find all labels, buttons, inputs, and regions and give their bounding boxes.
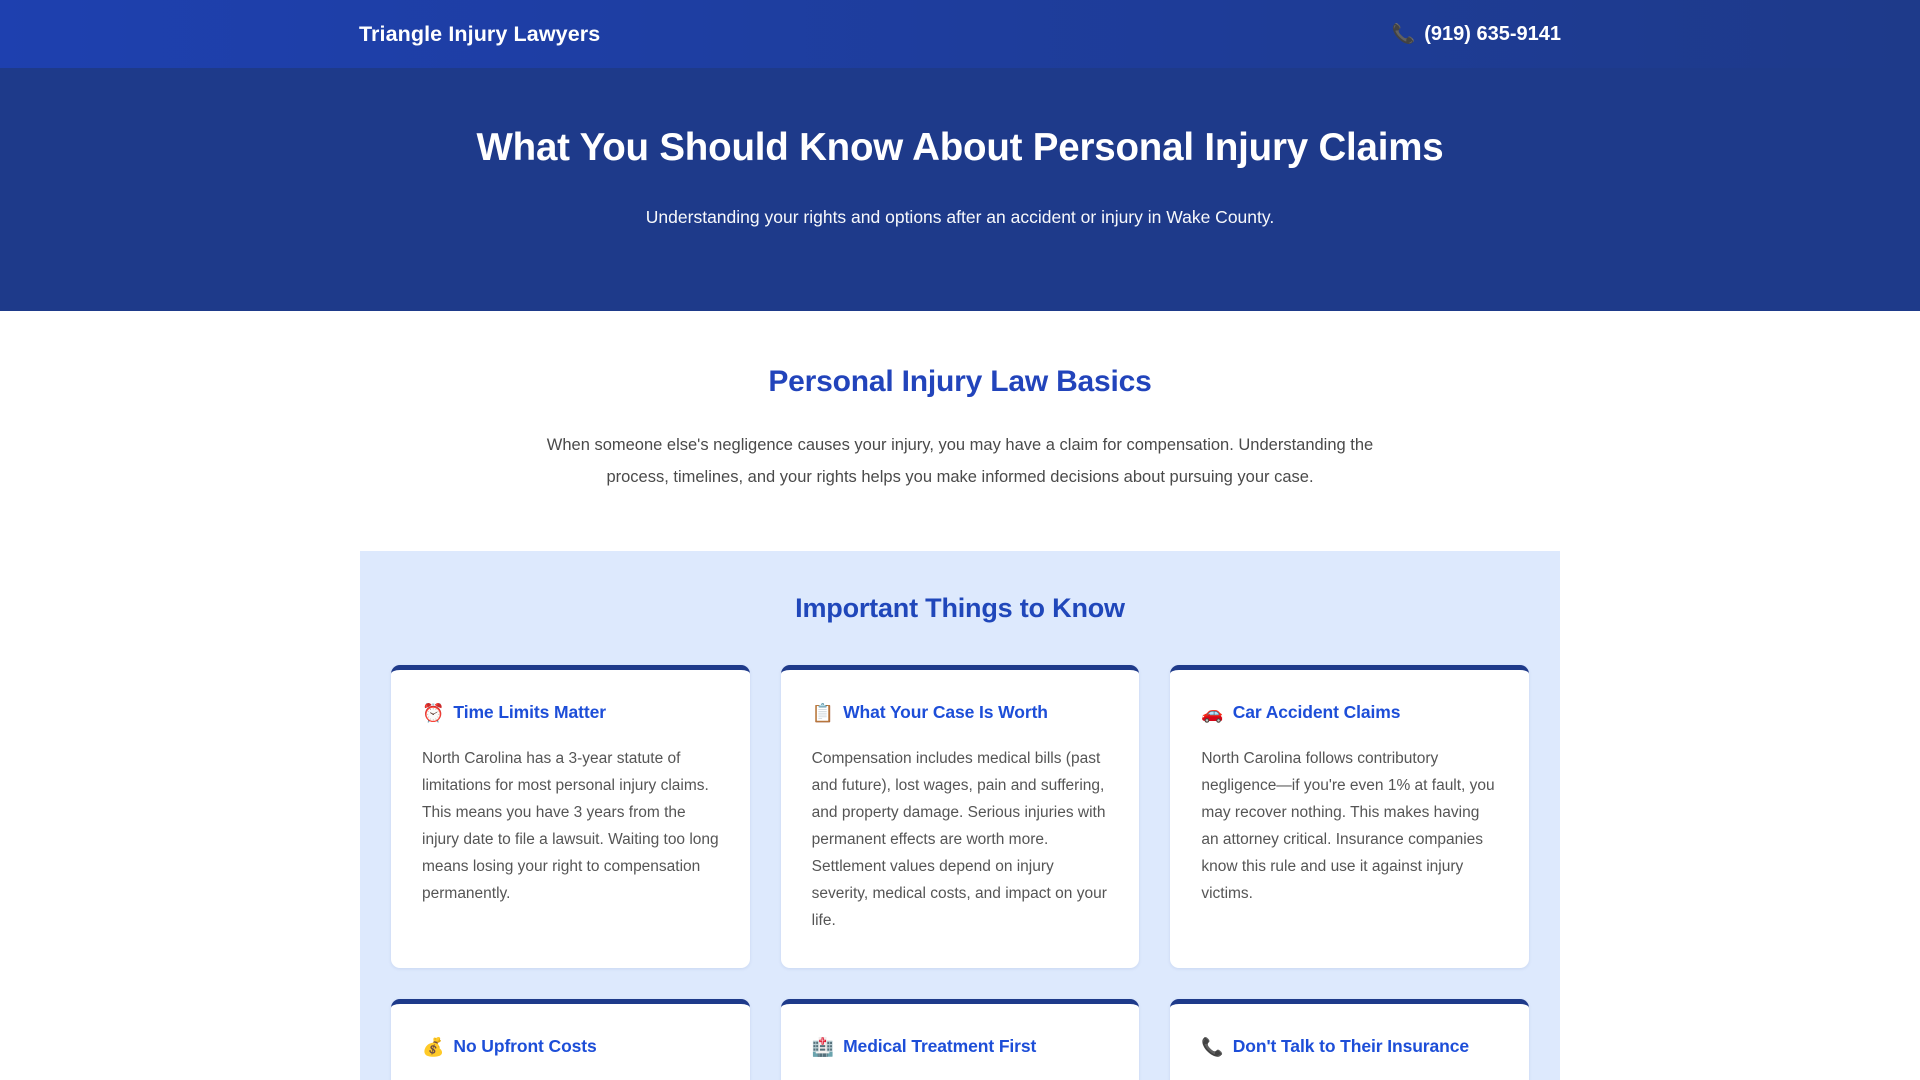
info-card-header: 📋 What Your Case Is Worth [812, 702, 1109, 723]
telephone-receiver-icon: 📞 [1201, 1038, 1223, 1056]
info-card[interactable]: 📋 What Your Case Is Worth Compensation i… [781, 665, 1140, 968]
header-phone-number: (919) 635-9141 [1424, 23, 1561, 46]
hero-title: What You Should Know About Personal Inju… [476, 126, 1443, 170]
hospital-icon: 🏥 [812, 1038, 834, 1056]
info-card-title: Car Accident Claims [1233, 702, 1401, 723]
info-card-header: 💰 No Upfront Costs [422, 1036, 719, 1057]
info-card-header: ⏰ Time Limits Matter [422, 702, 719, 723]
info-card[interactable]: 📞 Don't Talk to Their Insurance [1170, 999, 1529, 1080]
phone-icon: 📞 [1392, 25, 1416, 44]
info-card[interactable]: 🏥 Medical Treatment First [781, 999, 1140, 1080]
brand-logo-text[interactable]: Triangle Injury Lawyers [359, 22, 600, 47]
header-phone-link[interactable]: 📞 (919) 635-9141 [1392, 23, 1561, 46]
info-card[interactable]: 🚗 Car Accident Claims North Carolina fol… [1170, 665, 1529, 968]
basics-heading: Personal Injury Law Basics [0, 365, 1920, 399]
info-card-header: 📞 Don't Talk to Their Insurance [1201, 1036, 1498, 1057]
info-card-header: 🚗 Car Accident Claims [1201, 702, 1498, 723]
info-card-body: North Carolina follows contributory negl… [1201, 745, 1498, 907]
alarm-clock-icon: ⏰ [422, 704, 444, 722]
basics-section: Personal Injury Law Basics When someone … [0, 311, 1920, 1080]
car-icon: 🚗 [1201, 704, 1223, 722]
money-bag-icon: 💰 [422, 1038, 444, 1056]
site-header: Triangle Injury Lawyers 📞 (919) 635-9141 [0, 0, 1920, 68]
info-card-header: 🏥 Medical Treatment First [812, 1036, 1109, 1057]
clipboard-icon: 📋 [812, 704, 834, 722]
basics-paragraph: When someone else's negligence causes yo… [515, 429, 1405, 493]
info-card-title: What Your Case Is Worth [843, 702, 1048, 723]
hero-subtitle: Understanding your rights and options af… [646, 207, 1274, 228]
info-card-title: Medical Treatment First [843, 1036, 1036, 1057]
info-card[interactable]: ⏰ Time Limits Matter North Carolina has … [391, 665, 750, 968]
panel-heading: Important Things to Know [391, 593, 1529, 624]
info-card-body: Compensation includes medical bills (pas… [812, 745, 1109, 934]
info-card-title: Time Limits Matter [453, 702, 606, 723]
info-card[interactable]: 💰 No Upfront Costs [391, 999, 750, 1080]
important-things-panel: Important Things to Know ⏰ Time Limits M… [360, 551, 1560, 1080]
hero-section: What You Should Know About Personal Inju… [0, 68, 1920, 311]
info-card-grid: ⏰ Time Limits Matter North Carolina has … [391, 665, 1529, 1080]
info-card-body: North Carolina has a 3-year statute of l… [422, 745, 719, 907]
info-card-title: No Upfront Costs [453, 1036, 596, 1057]
info-card-title: Don't Talk to Their Insurance [1233, 1036, 1469, 1057]
